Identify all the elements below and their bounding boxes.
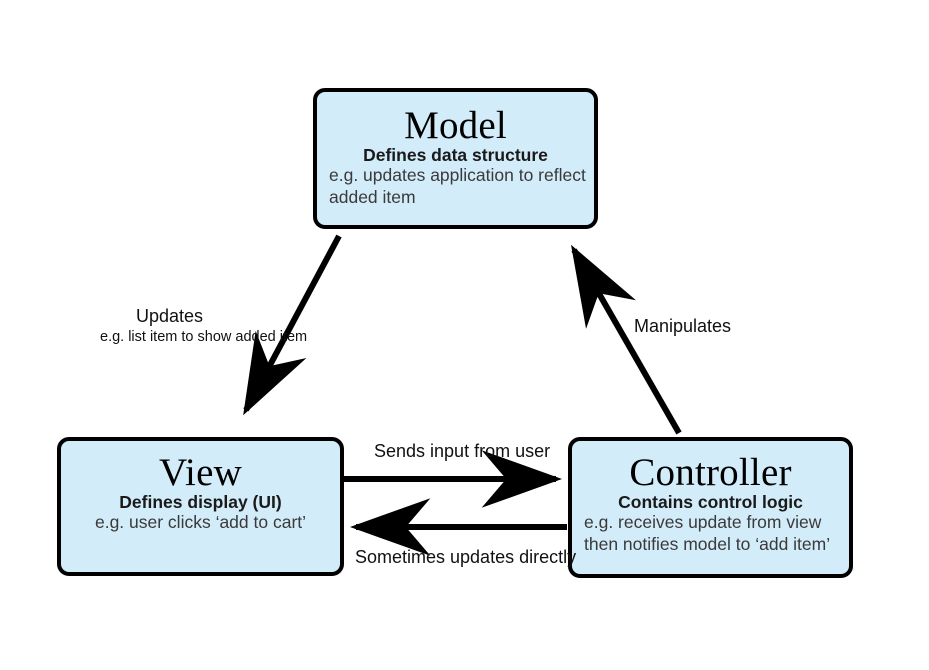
node-controller-title: Controller xyxy=(572,453,849,492)
mvc-diagram-canvas: Model Defines data structure e.g. update… xyxy=(0,0,929,670)
edge-label-manipulates: Manipulates xyxy=(634,316,731,337)
edge-label-sends-input-from-user: Sends input from user xyxy=(374,441,550,462)
node-view-example: e.g. user clicks ‘add to cart’ xyxy=(61,512,340,534)
node-model-subtitle: Defines data structure xyxy=(317,145,594,165)
node-model-example: e.g. updates application to reflect adde… xyxy=(317,165,594,209)
node-model-title: Model xyxy=(317,106,594,145)
node-view-subtitle: Defines display (UI) xyxy=(61,492,340,512)
arrow-model-to-view xyxy=(246,236,339,410)
node-model[interactable]: Model Defines data structure e.g. update… xyxy=(313,88,598,229)
edge-sublabel-updates: e.g. list item to show added item xyxy=(100,329,307,345)
node-view-title: View xyxy=(61,453,340,492)
node-controller-subtitle: Contains control logic xyxy=(572,492,849,512)
node-controller-example: e.g. receives update from view then noti… xyxy=(572,512,849,556)
arrow-controller-to-model xyxy=(574,250,679,433)
edge-label-updates: Updates xyxy=(136,306,203,327)
edge-label-sometimes-updates-directly: Sometimes updates directly xyxy=(355,547,576,568)
node-controller[interactable]: Controller Contains control logic e.g. r… xyxy=(568,437,853,578)
node-view[interactable]: View Defines display (UI) e.g. user clic… xyxy=(57,437,344,576)
